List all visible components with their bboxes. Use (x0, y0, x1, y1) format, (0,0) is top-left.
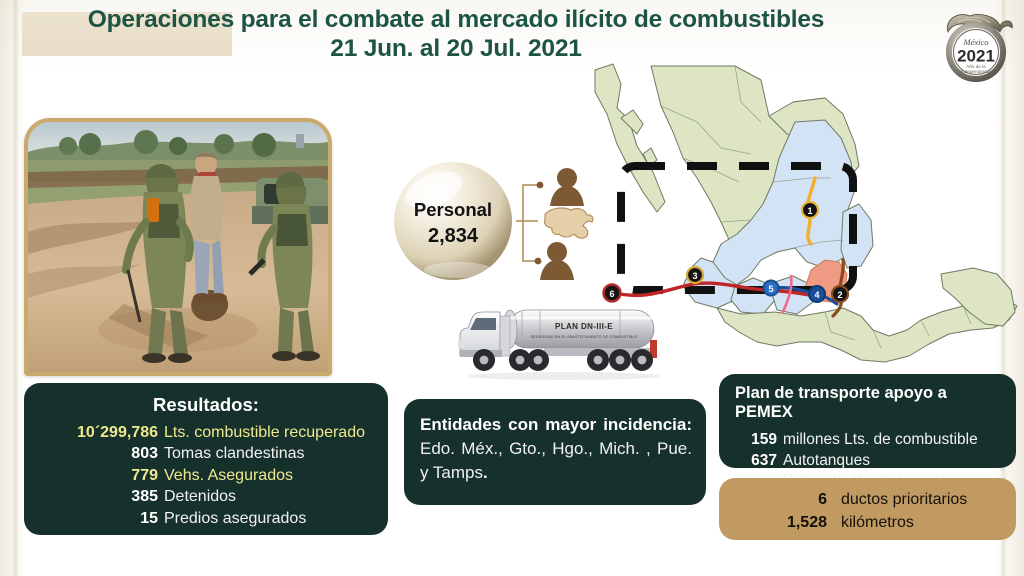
person-icon-top (550, 168, 584, 206)
svg-text:2021: 2021 (957, 47, 995, 66)
resultados-label: Predios asegurados (164, 508, 306, 529)
resultados-value: 10´299,786 (40, 422, 158, 443)
ductos-label: kilómetros (841, 511, 914, 534)
resultados-row: 779 Vehs. Asegurados (40, 465, 374, 486)
entidades-tail: . (483, 463, 488, 482)
resultados-row: 10´299,786 Lts. combustible recuperado (40, 422, 374, 443)
title-line-1: Operaciones para el combate al mercado i… (0, 6, 912, 35)
svg-text:5: 5 (768, 284, 773, 294)
ductos-panel: 6 ductos prioritarios 1,528 kilómetros (719, 478, 1016, 540)
title-line-2: 21 Jun. al 20 Jul. 2021 (0, 35, 912, 64)
personal-value: 2,834 (428, 225, 479, 247)
truck-plan-label: PLAN DN-III-E (555, 322, 613, 331)
mexico-2021-independencia-seal-icon: México 2021 Año de la Independencia (938, 4, 1018, 84)
svg-text:1: 1 (807, 206, 812, 216)
pemex-label: millones Lts. de combustible (783, 430, 978, 451)
mexico-map-icon (545, 208, 594, 238)
resultados-value: 385 (40, 486, 158, 507)
resultados-value: 803 (40, 443, 158, 464)
resultados-list: 10´299,786 Lts. combustible recuperado 8… (38, 422, 374, 529)
background-streak-left (12, 0, 19, 576)
page-title: Operaciones para el combate al mercado i… (0, 6, 912, 64)
resultados-row: 385 Detenidos (40, 486, 374, 507)
resultados-row: 15 Predios asegurados (40, 508, 374, 529)
ductos-row: 6 ductos prioritarios (729, 488, 1006, 511)
personal-label: Personal (414, 199, 492, 220)
truck-subtitle: SEGURIDAD EN EL ABASTECIMIENTO DE COMBUS… (531, 335, 638, 339)
pemex-label: Autotanques (783, 451, 870, 472)
map-marker-4: 4 (809, 286, 825, 302)
pemex-row: 159 millones Lts. de combustible (733, 430, 1006, 451)
personal-indicator: Personal 2,834 (390, 158, 600, 284)
map-marker-5: 5 (764, 281, 779, 296)
pemex-title: Plan de transporte apoyo a PEMEX (735, 384, 1006, 422)
operation-photo-image (28, 122, 328, 372)
person-icon-bottom (540, 242, 574, 280)
svg-text:4: 4 (814, 290, 819, 300)
ductos-label: ductos prioritarios (841, 488, 967, 511)
svg-text:2: 2 (837, 290, 842, 300)
map-marker-2: 2 (832, 286, 848, 302)
resultados-panel: Resultados: 10´299,786 Lts. combustible … (24, 383, 388, 535)
map-marker-3: 3 (687, 267, 703, 283)
resultados-label: Lts. combustible recuperado (164, 422, 365, 443)
svg-text:México: México (962, 37, 988, 47)
ductos-value: 6 (765, 488, 827, 511)
entidades-text: Entidades con mayor incidencia: Edo. Méx… (420, 413, 692, 484)
entidades-lead: Entidades con mayor incidencia: (420, 415, 692, 434)
svg-text:Independencia: Independencia (961, 69, 992, 74)
resultados-label: Detenidos (164, 486, 236, 507)
infographic-root: Operaciones para el combate al mercado i… (0, 0, 1024, 576)
pemex-row: 637 Autotanques (733, 451, 1006, 472)
resultados-row: 803 Tomas clandestinas (40, 443, 374, 464)
operation-photo (24, 118, 332, 376)
resultados-value: 779 (40, 465, 158, 486)
ductos-value: 1,528 (765, 511, 827, 534)
map-marker-1: 1 (802, 202, 818, 218)
pemex-panel: Plan de transporte apoyo a PEMEX 159 mil… (719, 374, 1016, 468)
ductos-row: 1,528 kilómetros (729, 511, 1006, 534)
svg-text:3: 3 (692, 271, 697, 281)
resultados-label: Vehs. Asegurados (164, 465, 293, 486)
entidades-panel: Entidades con mayor incidencia: Edo. Méx… (404, 399, 706, 505)
entidades-body: Edo. Méx., Gto., Hgo., Mich. , Pue. y Ta… (420, 439, 692, 482)
tanker-truck-illustration: PLAN DN-III-E SEGURIDAD EN EL ABASTECIMI… (444, 296, 676, 384)
resultados-value: 15 (40, 508, 158, 529)
resultados-label: Tomas clandestinas (164, 443, 305, 464)
pemex-value: 637 (733, 451, 777, 472)
resultados-title: Resultados: (38, 394, 374, 416)
pemex-value: 159 (733, 430, 777, 451)
